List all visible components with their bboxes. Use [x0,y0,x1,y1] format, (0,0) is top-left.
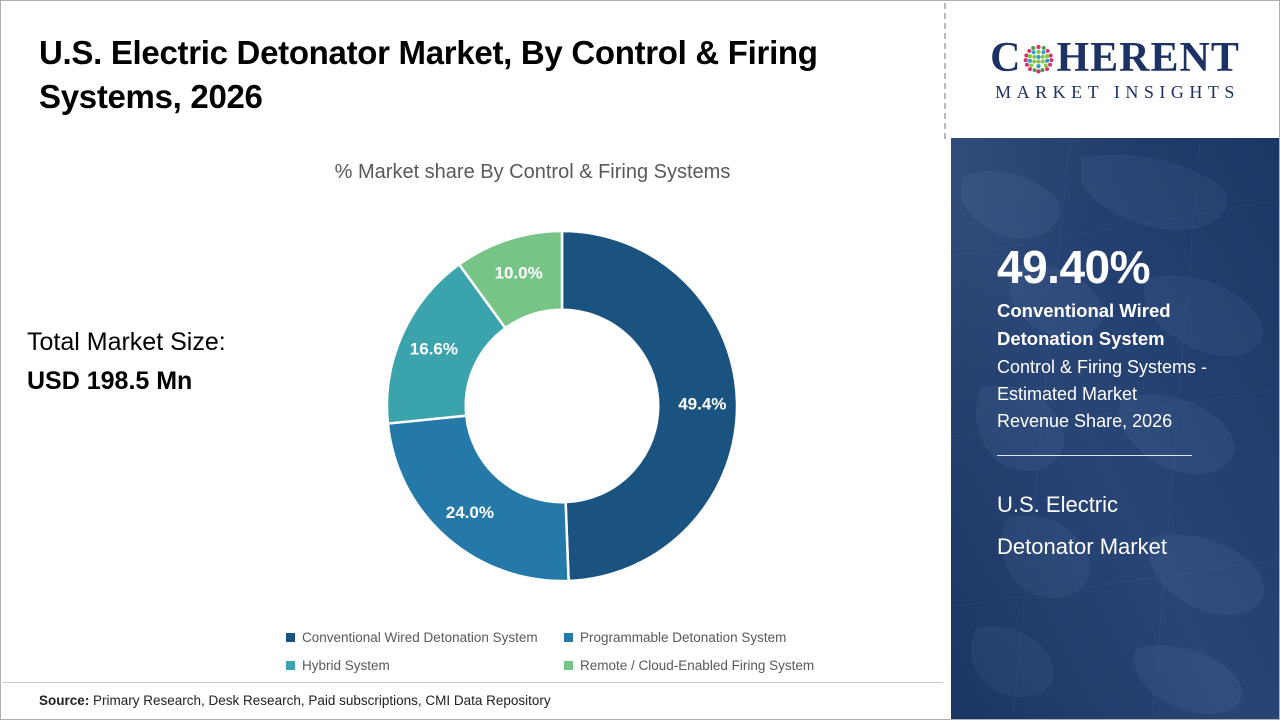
highlight-segment-line1: Conventional Wired [997,300,1171,321]
highlight-market-line1: U.S. Electric [997,492,1118,517]
donut-slice-label: 49.4% [678,394,726,413]
highlight-desc-line2: Estimated Market [997,384,1137,404]
brand-panel: C [951,1,1279,719]
total-market-label: Total Market Size: [27,328,226,356]
globe-dots-icon [1022,43,1055,76]
legend-item[interactable]: Conventional Wired Detonation System [286,623,564,651]
highlight-desc-line1: Control & Firing Systems - [997,357,1207,377]
highlight-segment-line2: Detonation System [997,328,1165,349]
highlight-description: Control & Firing Systems - Estimated Mar… [997,354,1229,436]
donut-slice [388,416,569,581]
highlight-segment-name: Conventional Wired Detonation System [997,297,1212,353]
legend-swatch-icon [564,661,573,670]
highlight-market-name: U.S. Electric Detonator Market [997,484,1247,570]
page-title: U.S. Electric Detonator Market, By Contr… [39,31,879,119]
highlight-market-line2: Detonator Market [997,534,1167,559]
total-market-value: USD 198.5 Mn [27,362,226,401]
source-label: Source: [39,693,89,708]
source-text: Primary Research, Desk Research, Paid su… [89,693,550,708]
donut-slice-label: 10.0% [495,264,543,283]
highlight-desc-line3: Revenue Share, 2026 [997,411,1172,431]
highlight-content: 49.40% Conventional Wired Detonation Sys… [997,243,1257,569]
source-note: Source: Primary Research, Desk Research,… [39,693,551,708]
logo-tagline: MARKET INSIGHTS [990,82,1240,103]
legend-item[interactable]: Programmable Detonation System [564,623,846,651]
logo-text-herent: HERENT [1056,37,1239,79]
logo-text-c: C [990,37,1021,79]
total-market-size: Total Market Size: USD 198.5 Mn [27,323,226,401]
legend-swatch-icon [564,633,573,642]
legend-swatch-icon [286,661,295,670]
chart-panel: U.S. Electric Detonator Market, By Contr… [1,1,944,719]
legend-label: Programmable Detonation System [580,630,786,645]
chart-subtitle: % Market share By Control & Firing Syste… [1,161,944,184]
source-divider [2,682,943,683]
panel-separator [944,3,946,139]
legend-label: Remote / Cloud-Enabled Firing System [580,658,814,673]
legend-item[interactable]: Remote / Cloud-Enabled Firing System [564,651,846,679]
highlight-percent: 49.40% [997,243,1257,291]
infographic-page: U.S. Electric Detonator Market, By Contr… [0,0,1280,720]
legend-label: Hybrid System [302,658,390,673]
donut-slice-label: 24.0% [446,503,494,522]
chart-legend: Conventional Wired Detonation SystemProg… [286,623,846,679]
legend-swatch-icon [286,633,295,642]
logo: C [951,1,1279,138]
highlight-panel: 49.40% Conventional Wired Detonation Sys… [951,138,1279,719]
donut-chart: 49.4%24.0%16.6%10.0% [385,229,739,583]
legend-item[interactable]: Hybrid System [286,651,564,679]
donut-slice-label: 16.6% [410,340,458,359]
legend-label: Conventional Wired Detonation System [302,630,538,645]
donut-chart-svg: 49.4%24.0%16.6%10.0% [385,229,739,583]
logo-wordmark: C [990,37,1240,79]
highlight-divider [997,455,1192,456]
